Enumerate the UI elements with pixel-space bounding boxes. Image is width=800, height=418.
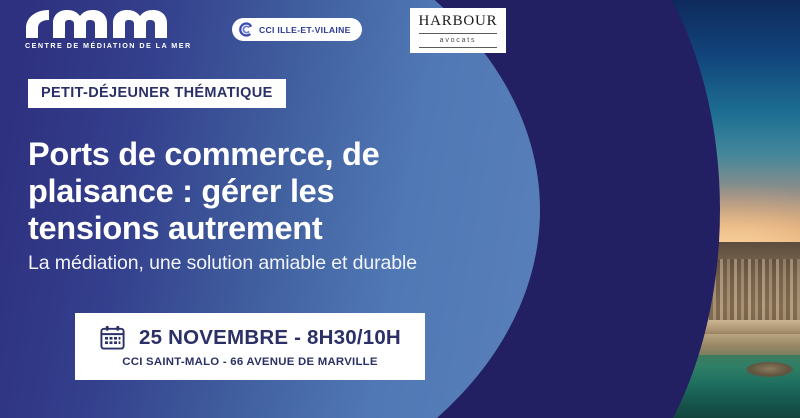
harbour-rule-top: [419, 33, 497, 34]
cmm-wordmark-icon: [25, 9, 170, 39]
calendar-icon: [99, 324, 126, 351]
harbour-sublabel: avocats: [416, 37, 500, 44]
event-venue: CCI SAINT-MALO - 66 AVENUE DE MARVILLE: [89, 356, 411, 368]
subtitle: La médiation, une solution amiable et du…: [28, 252, 417, 275]
logo-row: CENTRE DE MÉDIATION DE LA MER CCI ILLE-E…: [0, 0, 540, 62]
banner-content: CENTRE DE MÉDIATION DE LA MER CCI ILLE-E…: [0, 0, 800, 418]
headline: Ports de commerce, de plaisance : gérer …: [28, 136, 458, 248]
logo-cmm: CENTRE DE MÉDIATION DE LA MER: [25, 9, 170, 50]
cmm-tagline: CENTRE DE MÉDIATION DE LA MER: [25, 41, 170, 50]
logo-harbour: HARBOUR avocats: [410, 8, 506, 53]
cci-mark-icon: [239, 22, 254, 37]
event-date-time: 25 NOVEMBRE - 8H30/10H: [139, 326, 401, 350]
logo-cci: CCI ILLE-ET-VILAINE: [232, 18, 362, 41]
headline-line-2: plaisance : gérer les: [28, 173, 458, 210]
headline-line-1: Ports de commerce, de: [28, 136, 458, 173]
harbour-rule-bottom: [419, 47, 497, 48]
event-date-line: 25 NOVEMBRE - 8H30/10H: [89, 324, 411, 351]
event-banner: CENTRE DE MÉDIATION DE LA MER CCI ILLE-E…: [0, 0, 800, 418]
cci-label: CCI ILLE-ET-VILAINE: [259, 25, 351, 35]
event-type-badge: PETIT-DÉJEUNER THÉMATIQUE: [28, 79, 286, 108]
headline-line-3: tensions autrement: [28, 210, 458, 247]
event-details-panel: 25 NOVEMBRE - 8H30/10H CCI SAINT-MALO - …: [75, 313, 425, 380]
harbour-label: HARBOUR: [416, 14, 500, 29]
